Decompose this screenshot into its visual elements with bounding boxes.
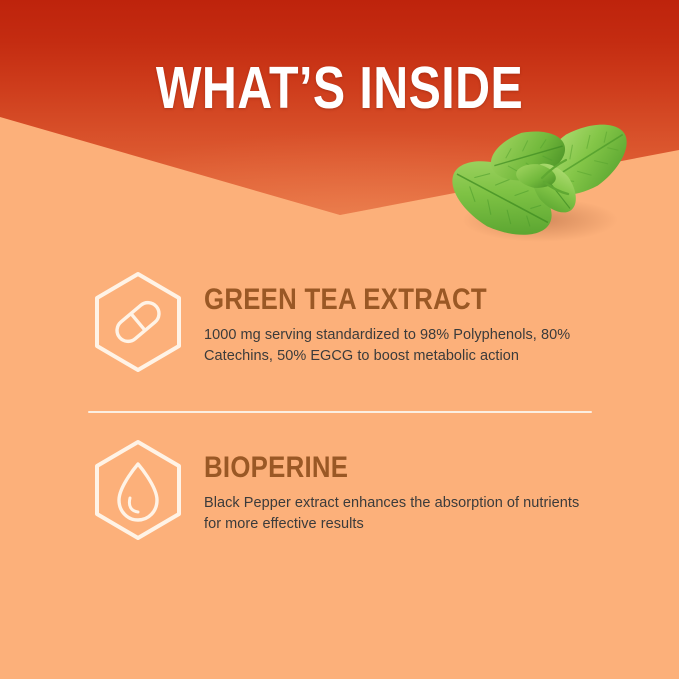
list-item-text: BIOPERINE Black Pepper extract enhances … (188, 436, 592, 535)
list-item: GREEN TEA EXTRACT 1000 mg serving standa… (88, 268, 592, 374)
ingredient-title: BIOPERINE (204, 452, 538, 484)
list-item: BIOPERINE Black Pepper extract enhances … (88, 436, 592, 542)
capsule-pill-icon (88, 270, 188, 374)
ingredient-description: Black Pepper extract enhances the absorp… (204, 493, 592, 535)
ingredient-title: GREEN TEA EXTRACT (204, 284, 538, 316)
ingredient-list: GREEN TEA EXTRACT 1000 mg serving standa… (0, 0, 679, 679)
water-droplet-icon (88, 438, 188, 542)
list-item-text: GREEN TEA EXTRACT 1000 mg serving standa… (188, 268, 592, 367)
whats-inside-panel: WHAT’S INSIDE (0, 0, 679, 679)
ingredient-description: 1000 mg serving standardized to 98% Poly… (204, 325, 592, 367)
